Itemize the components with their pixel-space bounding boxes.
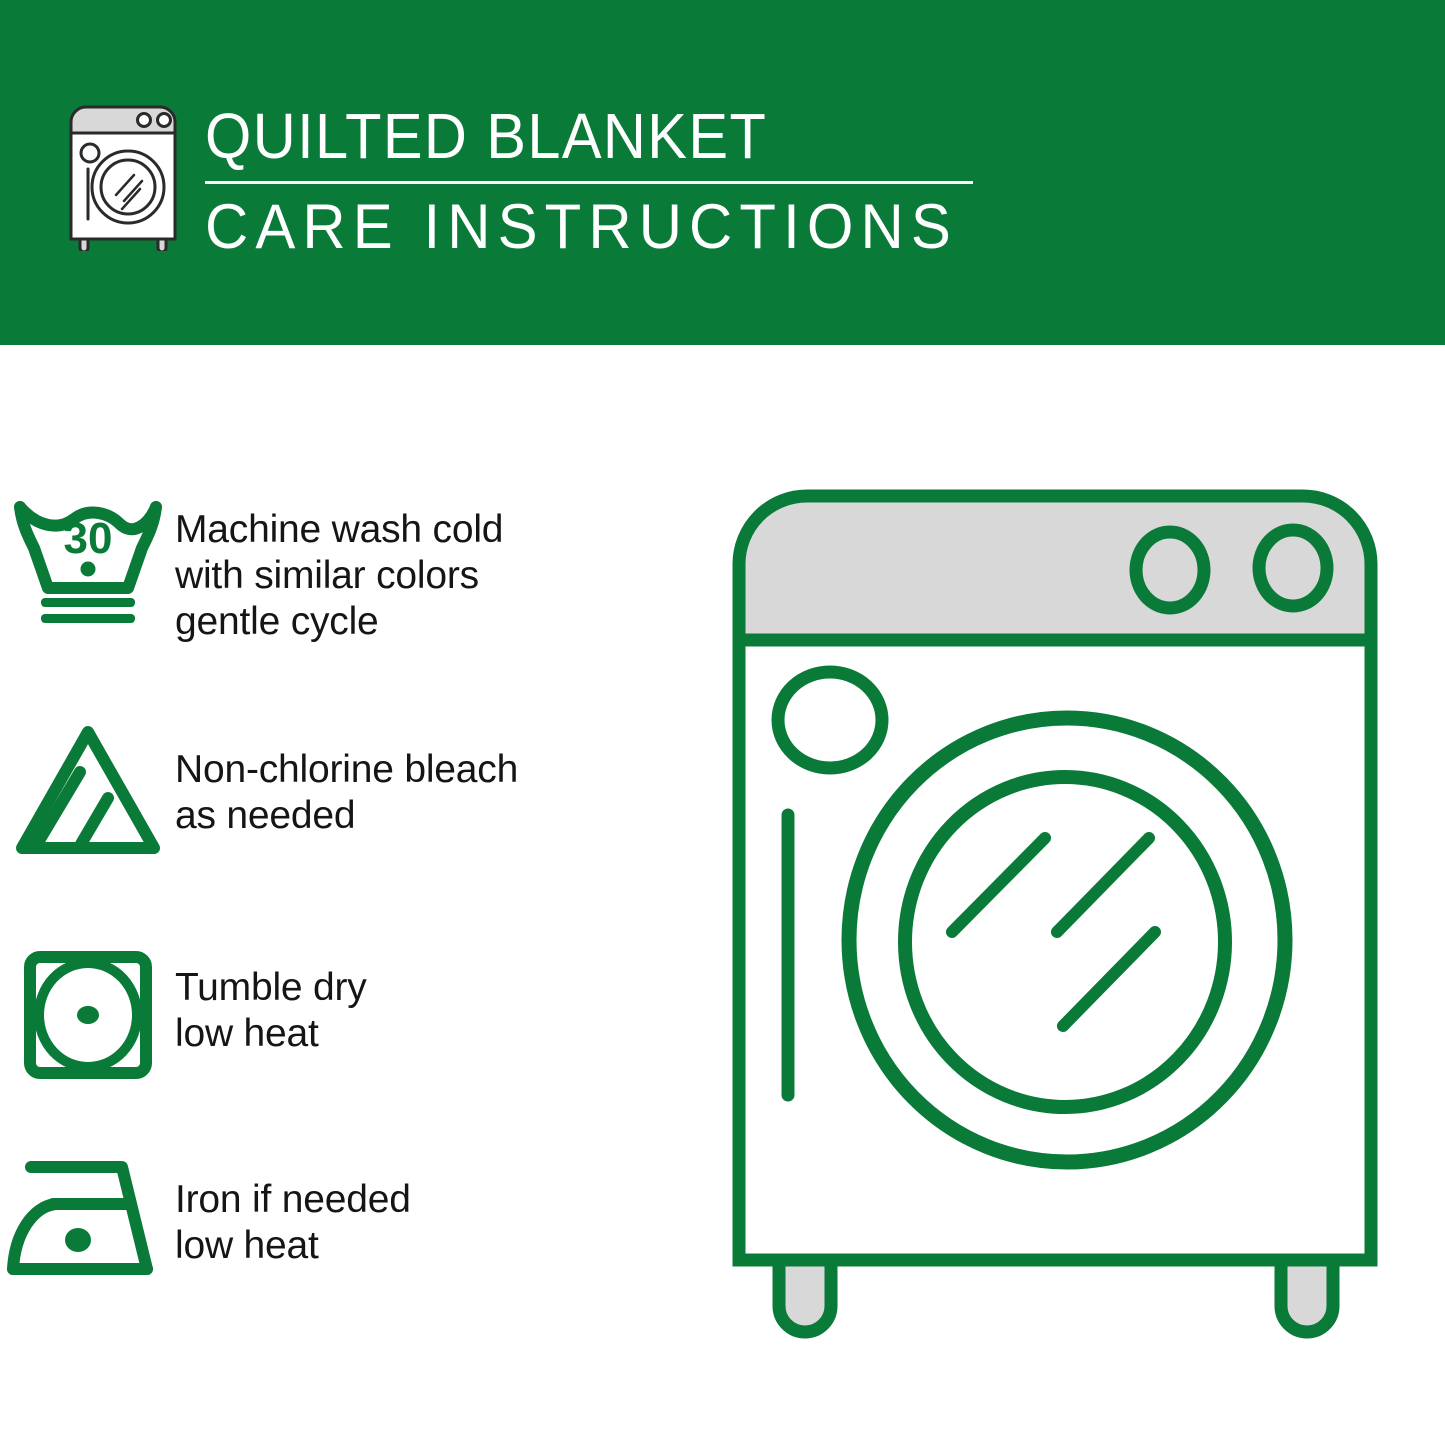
leg-right xyxy=(1281,1260,1333,1332)
care-row-machine-wash: 30 Machine wash cold with similar colors… xyxy=(0,490,700,645)
front-load-washing-machine-illustration xyxy=(715,470,1395,1370)
care-text-tumble-dry: Tumble dry low heat xyxy=(175,945,367,1057)
tumble-dry-low-icon xyxy=(0,945,175,1085)
header-text-block: QUILTED BLANKET CARE INSTRUCTIONS xyxy=(205,104,995,260)
page-title: QUILTED BLANKET xyxy=(205,104,940,169)
care-row-tumble-dry: Tumble dry low heat xyxy=(0,945,700,1085)
washing-machine-icon xyxy=(62,103,184,251)
care-row-bleach: Non-chlorine bleach as needed xyxy=(0,720,700,860)
wash-tub-30-gentle-icon: 30 xyxy=(0,490,175,632)
care-text-iron: Iron if needed low heat xyxy=(175,1155,411,1269)
knob-left xyxy=(1136,532,1204,608)
drum-inner-circle xyxy=(905,777,1225,1107)
detergent-dispenser-circle xyxy=(778,672,882,768)
care-instructions-page: QUILTED BLANKET CARE INSTRUCTIONS 30 xyxy=(0,0,1445,1445)
leg-left xyxy=(779,1260,831,1332)
header-banner: QUILTED BLANKET CARE INSTRUCTIONS xyxy=(0,0,1445,345)
care-instruction-list: 30 Machine wash cold with similar colors… xyxy=(0,345,700,1445)
care-row-iron: Iron if needed low heat xyxy=(0,1155,700,1285)
title-divider xyxy=(205,181,973,184)
iron-low-heat-icon xyxy=(0,1155,175,1285)
svg-text:30: 30 xyxy=(63,514,112,563)
page-subtitle: CARE INSTRUCTIONS xyxy=(205,195,956,259)
non-chlorine-bleach-triangle-icon xyxy=(0,720,175,860)
care-text-machine-wash: Machine wash cold with similar colors ge… xyxy=(175,490,503,645)
knob-right xyxy=(1259,530,1327,606)
care-text-bleach: Non-chlorine bleach as needed xyxy=(175,720,518,839)
